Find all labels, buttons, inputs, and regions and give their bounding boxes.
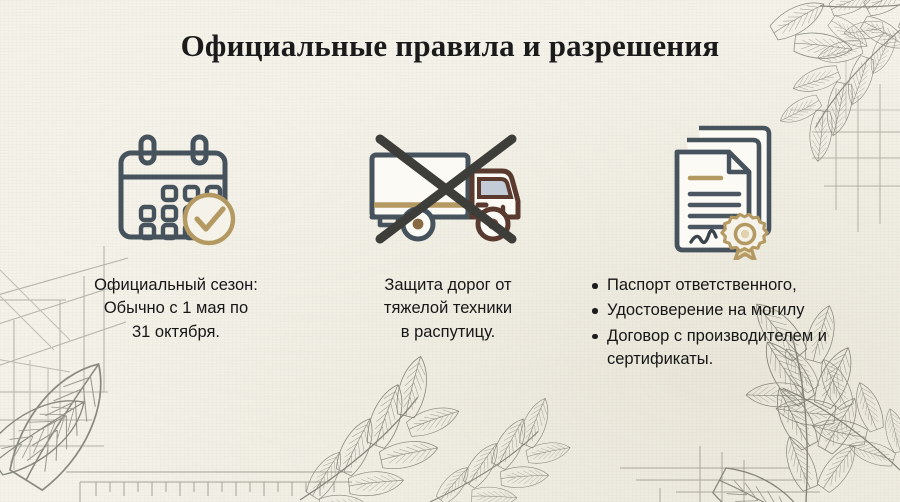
documents-certificate-icon <box>659 120 785 260</box>
column-documents-text: Паспорт ответственного, Удостоверение на… <box>588 274 860 374</box>
no-heavy-truck-icon-wrap <box>362 120 534 260</box>
list-item: Паспорт ответственного, <box>607 274 860 297</box>
page-title: Официальные правила и разрешения <box>0 28 900 64</box>
documents-bullet-list: Паспорт ответственного, Удостоверение на… <box>588 274 860 372</box>
season-line-1: Официальный сезон: <box>94 274 258 297</box>
road-line-1: Защита дорог от <box>384 274 512 297</box>
calendar-check-icon <box>111 131 241 249</box>
leaf-cluster-bottom-center-2 <box>409 389 584 502</box>
columns-container: Официальный сезон: Обычно с 1 мая по 31 … <box>40 120 860 400</box>
leaf-bottom-right-3 <box>709 461 818 502</box>
no-heavy-truck-icon <box>362 131 534 249</box>
season-line-2: Обычно с 1 мая по <box>94 297 258 320</box>
column-road-protection: Защита дорог от тяжелой техники в распут… <box>312 120 584 400</box>
list-item: Договор с производителем и сертификаты. <box>607 325 860 372</box>
column-road-protection-text: Защита дорог от тяжелой техники в распут… <box>384 274 512 344</box>
column-season-text: Официальный сезон: Обычно с 1 мая по 31 … <box>94 274 258 344</box>
road-line-2: тяжелой техники <box>384 297 512 320</box>
documents-certificate-icon-wrap <box>659 120 785 260</box>
column-season: Официальный сезон: Обычно с 1 мая по 31 … <box>40 120 312 400</box>
slide-root: Официальные правила и разрешения <box>0 0 900 502</box>
calendar-check-icon-wrap <box>111 120 241 260</box>
architectural-lines-bottom-right <box>620 446 820 502</box>
column-documents: Паспорт ответственного, Удостоверение на… <box>584 120 860 400</box>
ruler-scale-bar <box>66 472 352 502</box>
award-seal <box>722 214 767 260</box>
season-line-3: 31 октября. <box>94 321 258 344</box>
list-item: Удостоверение на могилу <box>607 299 860 322</box>
road-line-3: в распутицу. <box>384 321 512 344</box>
